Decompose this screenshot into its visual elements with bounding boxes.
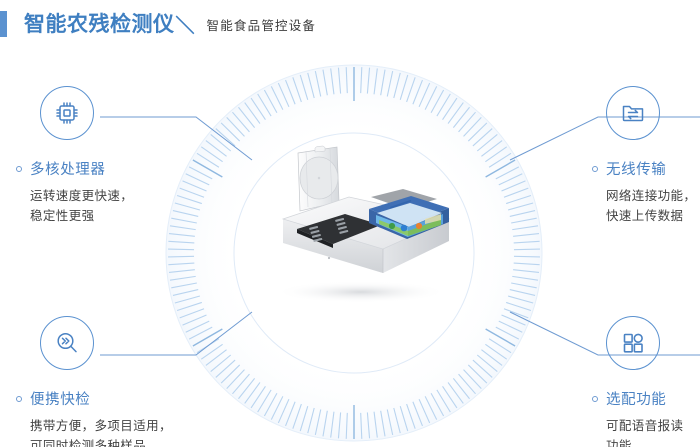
feature-description: 网络连接功能， 快速上传数据 — [606, 186, 700, 226]
device-illustration — [253, 145, 463, 305]
bullet-icon — [16, 166, 22, 172]
title-slash-mark: ＼ — [176, 11, 195, 38]
feature-description: 携带方便，多项目适用， 可同时检测多种样品 — [30, 416, 216, 447]
folder-transfer-icon — [606, 86, 660, 140]
feature-heading: 多核处理器 — [16, 158, 206, 179]
feature-description: 可配语音报读 功能 — [606, 416, 700, 447]
feature-desc-line: 网络连接功能， — [606, 186, 700, 206]
page-subtitle: 智能食品管控设备 — [207, 15, 317, 34]
product-feature-banner: 智能农残检测仪 ＼ 智能食品管控设备 — [0, 0, 700, 447]
feature-title: 多核处理器 — [30, 158, 106, 179]
cpu-chip-icon — [40, 86, 94, 140]
feature-desc-line: 携带方便，多项目适用， — [30, 416, 216, 436]
feature-bottom-left: 便携快检 携带方便，多项目适用， 可同时检测多种样品 — [16, 316, 216, 447]
page-header: 智能农残检测仪 ＼ 智能食品管控设备 — [0, 10, 316, 38]
feature-heading: 无线传输 — [592, 158, 700, 179]
fast-search-icon — [40, 316, 94, 370]
page-title: 智能农残检测仪 — [24, 14, 175, 35]
grid-modules-icon — [606, 316, 660, 370]
header-accent-bar — [0, 11, 7, 37]
bullet-icon — [592, 396, 598, 402]
feature-heading: 选配功能 — [592, 388, 700, 409]
bullet-icon — [592, 166, 598, 172]
feature-title: 便携快检 — [30, 388, 90, 409]
feature-heading: 便携快检 — [16, 388, 216, 409]
feature-top-right: 无线传输 网络连接功能， 快速上传数据 — [592, 86, 700, 226]
feature-desc-line: 快速上传数据 — [606, 206, 700, 226]
feature-title: 无线传输 — [606, 158, 666, 179]
feature-top-left: 多核处理器 运转速度更快速， 稳定性更强 — [16, 86, 206, 226]
feature-desc-line: 可配语音报读 — [606, 416, 700, 436]
feature-bottom-right: 选配功能 可配语音报读 功能 — [592, 316, 700, 447]
bullet-icon — [16, 396, 22, 402]
feature-description: 运转速度更快速， 稳定性更强 — [30, 186, 206, 226]
feature-title: 选配功能 — [606, 388, 666, 409]
feature-desc-line: 功能 — [606, 436, 700, 447]
feature-desc-line: 可同时检测多种样品 — [30, 436, 216, 447]
feature-desc-line: 稳定性更强 — [30, 206, 206, 226]
feature-desc-line: 运转速度更快速， — [30, 186, 206, 206]
